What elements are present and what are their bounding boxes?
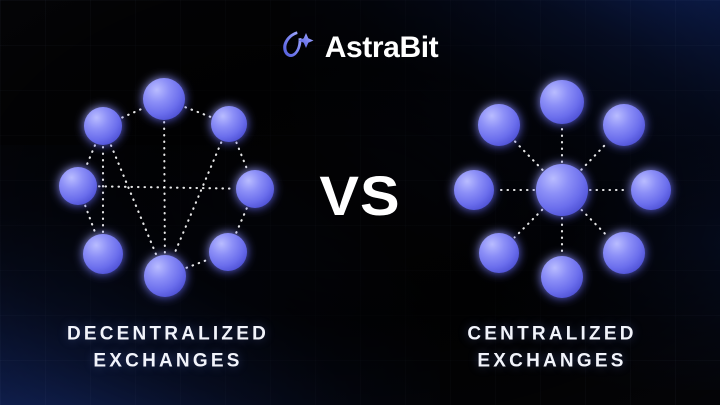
- network-node: [83, 234, 123, 274]
- versus-label: VS: [0, 168, 720, 224]
- connection-line: [581, 142, 608, 170]
- network-node: [144, 255, 186, 297]
- network-node: [211, 106, 247, 142]
- network-node: [541, 256, 583, 298]
- connection-line: [515, 142, 543, 170]
- infographic-canvas: AstraBit VS DECENTRALIZED: [0, 0, 720, 405]
- network-node: [603, 232, 645, 274]
- connection-line: [185, 107, 210, 117]
- network-node: [479, 233, 519, 273]
- network-node: [478, 104, 520, 146]
- network-node: [540, 80, 584, 124]
- network-node: [603, 104, 645, 146]
- centralized-caption-line2: EXCHANGES: [402, 348, 702, 375]
- decentralized-caption: DECENTRALIZED EXCHANGES: [18, 321, 318, 376]
- connection-line: [236, 143, 247, 170]
- connection-line: [86, 145, 95, 166]
- network-node: [143, 78, 185, 120]
- network-node: [209, 233, 247, 271]
- decentralized-caption-line1: DECENTRALIZED: [67, 323, 269, 345]
- centralized-caption: CENTRALIZED EXCHANGES: [402, 321, 702, 376]
- connection-line: [186, 259, 208, 267]
- network-node: [84, 107, 122, 145]
- centralized-caption-line1: CENTRALIZED: [467, 323, 636, 345]
- connection-line: [122, 108, 143, 117]
- decentralized-caption-line2: EXCHANGES: [18, 348, 318, 375]
